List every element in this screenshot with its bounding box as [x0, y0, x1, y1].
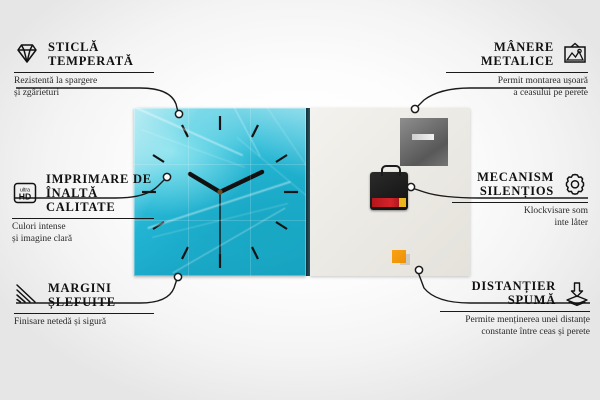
beveled-edge-icon — [14, 283, 40, 307]
divider — [440, 311, 590, 312]
callout-description: Rezistentă la spargere și zgârieturi — [14, 76, 154, 99]
divider — [452, 202, 588, 203]
callout-foam-spacer: DISTANȚIER SPUMĂ Permite menținerea unei… — [440, 279, 590, 338]
callout-title: MECANISM SILENȚIOS — [477, 170, 554, 198]
callout-silent-mechanism: MECANISM SILENȚIOS Klockvisare som inte … — [452, 170, 588, 229]
callout-title: MÂNERE METALICE — [481, 40, 554, 68]
callout-description: Permite menținerea unei distanțe constan… — [440, 315, 590, 338]
callout-description: Culori intense și imagine clară — [12, 222, 154, 245]
callout-print-quality: ultra HD IMPRIMARE DE ÎNALTĂ CALITATE Cu… — [12, 172, 154, 245]
wire-endpoint-glass — [175, 110, 182, 117]
callout-title: IMPRIMARE DE ÎNALTĂ CALITATE — [46, 172, 154, 214]
callout-description: Permit montarea ușoară a ceasului pe per… — [446, 76, 588, 99]
callout-tempered-glass: STICLĂ TEMPERATĂ Rezistentă la spargere … — [14, 40, 154, 99]
callout-metal-handles: MÂNERE METALICE Permit montarea ușoară a… — [446, 40, 588, 99]
ultra-hd-icon: ultra HD — [12, 181, 38, 205]
divider — [446, 72, 588, 73]
callout-title: STICLĂ TEMPERATĂ — [48, 40, 134, 68]
arrow-down-layers-icon — [564, 281, 590, 305]
diamond-icon — [14, 42, 40, 66]
divider — [12, 218, 154, 219]
wire-endpoint-print — [163, 173, 170, 180]
wire-endpoint-mechanism — [407, 183, 414, 190]
infographic-canvas: STICLĂ TEMPERATĂ Rezistentă la spargere … — [0, 0, 600, 400]
divider — [14, 313, 154, 314]
picture-hanger-icon — [562, 42, 588, 66]
svg-text:HD: HD — [19, 192, 31, 202]
callout-title: MARGINI ȘLEFUITE — [48, 281, 116, 309]
callout-description: Finisare netedă și sigură — [14, 317, 154, 329]
divider — [14, 72, 154, 73]
callout-description: Klockvisare som inte låter — [452, 206, 588, 229]
gear-icon — [562, 172, 588, 196]
wire-endpoint-handles — [411, 105, 418, 112]
callout-polished-edges: MARGINI ȘLEFUITE Finisare netedă și sigu… — [14, 281, 154, 329]
callout-title: DISTANȚIER SPUMĂ — [472, 279, 556, 307]
wire-endpoint-spacer — [415, 266, 422, 273]
wire-endpoint-edges — [174, 273, 181, 280]
